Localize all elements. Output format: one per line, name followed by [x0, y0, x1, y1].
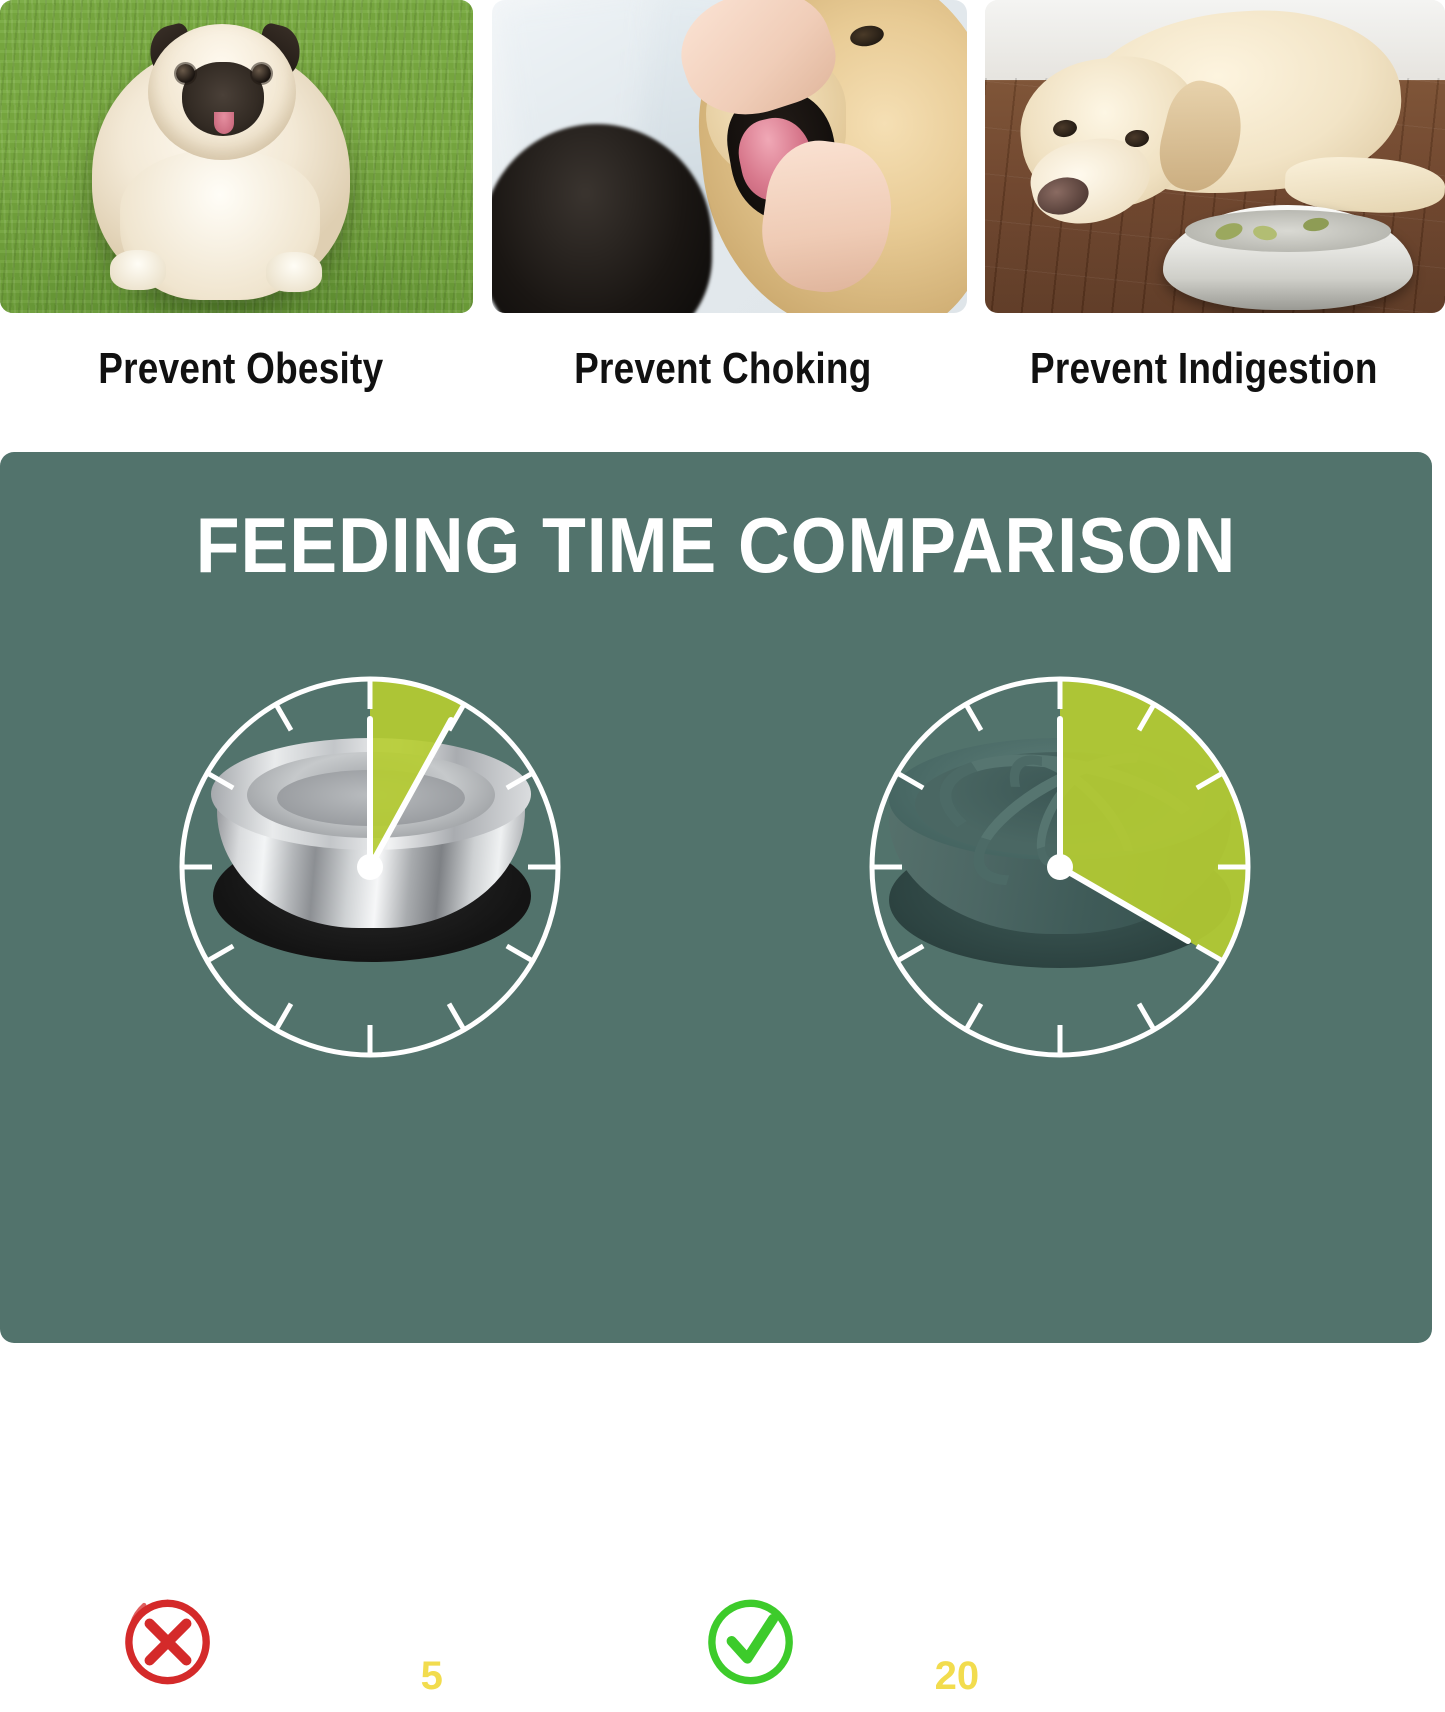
caption-prevent-obesity: Prevent Obesity [39, 326, 444, 412]
legend-slow-feeding-bowl: Slow Feeding Bowl About 20 minutes [705, 1592, 1284, 1712]
pug-eye-right [252, 64, 271, 83]
feeding-time-comparison-card: FEEDING TIME COMPARISON [0, 452, 1432, 1343]
legend-minutes-left: 5 [421, 1654, 443, 1698]
legend-normal-bowl: Normal Bowl Less than 5 minutes [122, 1592, 594, 1712]
caption-prevent-choking: Prevent Choking [520, 326, 925, 412]
green-check-circle-icon [705, 1596, 797, 1688]
photo-prevent-choking [492, 0, 967, 313]
dial-slow-feeding-bowl [845, 652, 1275, 1082]
legend-title-slow-feeding-bowl: Slow Feeding Bowl [819, 1592, 1284, 1648]
legend-minutes-right: 20 [935, 1654, 980, 1698]
legend-sub-prefix-left: Less than [236, 1654, 409, 1698]
clock-center-dot [357, 854, 383, 880]
pug-eye-left [176, 64, 195, 83]
clock-face-left [155, 652, 585, 1082]
photo-prevent-indigestion [985, 0, 1445, 313]
legend-text-right: Slow Feeding Bowl About 20 minutes [819, 1592, 1284, 1700]
legend-text-left: Normal Bowl Less than 5 minutes [236, 1592, 594, 1700]
pug-paw-right [266, 252, 322, 292]
legend-subtitle-slow-feeding-bowl: About 20 minutes [819, 1652, 1284, 1700]
photo-captions: Prevent Obesity Prevent Choking Prevent … [0, 326, 1445, 412]
page-title: FEEDING TIME COMPARISON [57, 502, 1374, 588]
photo-prevent-obesity [0, 0, 473, 313]
legend-title-normal-bowl: Normal Bowl [236, 1592, 594, 1648]
pug-paw-left [110, 250, 166, 290]
legend-sub-suffix-left: minutes [454, 1654, 594, 1698]
pug-tongue [214, 112, 234, 134]
red-x-circle-icon [122, 1596, 214, 1688]
clock-center-dot [1047, 854, 1073, 880]
legend-sub-suffix-right: minutes [990, 1654, 1130, 1698]
legend-sub-prefix-right: About [819, 1654, 924, 1698]
photo-strip [0, 0, 1445, 316]
dial-normal-bowl [155, 652, 585, 1082]
caption-prevent-indigestion: Prevent Indigestion [1002, 326, 1407, 412]
legend-subtitle-normal-bowl: Less than 5 minutes [236, 1652, 594, 1700]
clock-face-right [845, 652, 1275, 1082]
